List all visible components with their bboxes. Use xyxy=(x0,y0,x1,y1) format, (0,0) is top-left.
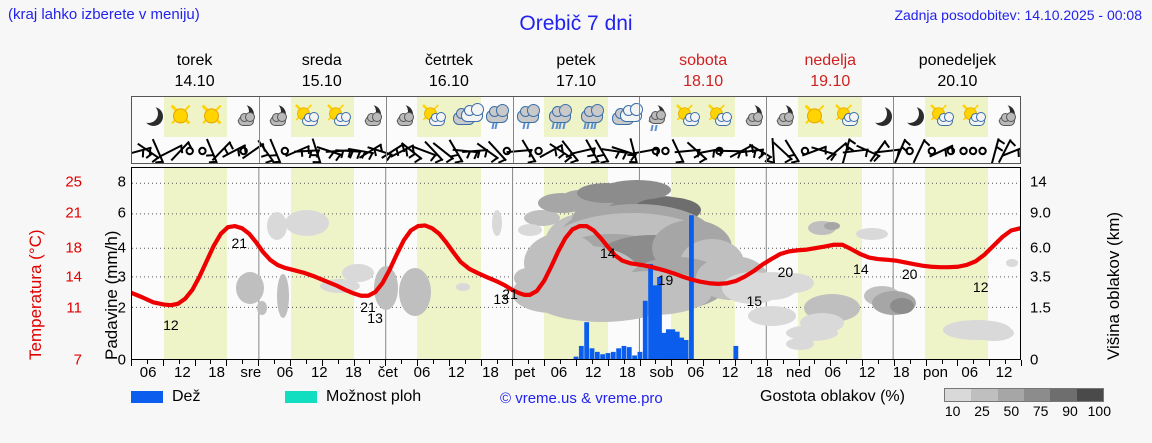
time-tick-label: pet xyxy=(508,364,542,384)
axis-tick: 8 xyxy=(118,174,126,191)
day-header-petek: petek17.10 xyxy=(512,50,639,94)
cloud-icon xyxy=(334,116,350,126)
sun-cloud-icon xyxy=(829,100,863,130)
temperature-label: 15 xyxy=(746,293,762,309)
cloud-rain-heavy-icon xyxy=(575,100,609,130)
raindrop-icon xyxy=(654,125,657,131)
wind-calm-icon xyxy=(240,148,246,154)
weather-slot-24 xyxy=(893,97,925,137)
copyright-link[interactable]: © vreme.us & vreme.pro xyxy=(500,390,663,407)
axis-tick: 14 xyxy=(65,269,82,286)
cloud-density-step-1 xyxy=(971,389,997,401)
cloud-icon xyxy=(683,116,699,126)
axis-tick: 21 xyxy=(65,205,82,222)
weather-slot-21 xyxy=(798,97,830,137)
sun-icon xyxy=(162,97,197,132)
cloud-icon xyxy=(937,116,953,126)
last-updated: Zadnja posodobitev: 14.10.2025 - 00:08 xyxy=(894,7,1142,23)
cloud-icon xyxy=(715,116,731,126)
time-tick-label: 06 xyxy=(816,364,850,384)
raindrop-icon xyxy=(526,123,529,129)
temperature-curve xyxy=(132,168,1020,359)
weather-slot-9 xyxy=(417,97,449,137)
day-header-četrtek: četrtek16.10 xyxy=(385,50,512,94)
wind-barb-icon xyxy=(895,139,910,163)
day-separator xyxy=(259,97,260,163)
time-tick-label: ned xyxy=(781,364,815,384)
time-tick-label: čet xyxy=(371,364,405,384)
legend-label-showers: Možnost ploh xyxy=(326,388,421,406)
moon-cloud-icon xyxy=(258,100,292,130)
time-tick-label: 12 xyxy=(850,364,884,384)
moon-icon xyxy=(868,104,887,123)
weather-slot-12 xyxy=(513,97,545,137)
axis-tick: 0 xyxy=(118,352,126,369)
raindrop-icon xyxy=(562,123,565,129)
wind-calm-icon xyxy=(948,148,954,154)
time-tick-label: 06 xyxy=(405,364,439,384)
weather-slot-22 xyxy=(830,97,862,137)
legend-item-showers: Možnost ploh xyxy=(285,388,421,406)
wind-calm-icon xyxy=(199,148,205,154)
day-header-torek: torek14.10 xyxy=(131,50,258,94)
weather-slot-25 xyxy=(925,97,957,137)
wind-barb-icon xyxy=(159,145,182,157)
moon-cloud-icon xyxy=(385,100,419,130)
weather-slot-1 xyxy=(164,97,196,137)
weather-slot-14 xyxy=(576,97,608,137)
day-separator xyxy=(386,97,387,163)
time-tick-label: 12 xyxy=(302,364,336,384)
cloud-density-step-4 xyxy=(1050,389,1076,401)
wind-barb-icon xyxy=(749,144,771,161)
axis-tick: 4 xyxy=(118,240,126,257)
cloud-icon xyxy=(429,116,445,126)
weather-slot-0 xyxy=(132,97,164,137)
cloud-icon xyxy=(607,100,641,130)
wind-barb-icon xyxy=(171,142,192,161)
moon-cloud-icon xyxy=(987,100,1021,130)
day-name: sreda xyxy=(258,50,385,71)
axis-tick: 3 xyxy=(118,269,126,286)
day-separator xyxy=(639,97,640,163)
moon-cloud-rain-icon xyxy=(638,100,672,130)
raindrop-icon xyxy=(594,123,597,129)
sun-cloud-icon xyxy=(416,100,450,130)
sun-icon xyxy=(163,100,197,130)
axis-tick: 3.5 xyxy=(1030,269,1051,286)
day-date: 17.10 xyxy=(512,71,639,92)
weather-slot-19 xyxy=(735,97,767,137)
time-tick-label: 12 xyxy=(165,364,199,384)
cloud-icon xyxy=(365,116,381,126)
cloud-icon xyxy=(777,116,793,126)
time-tick-label: sob xyxy=(645,364,679,384)
wind-barb-icon xyxy=(212,142,233,161)
cloud-density-scale-labels: 1025507590100 xyxy=(938,403,1114,419)
day-header-sreda: sreda15.10 xyxy=(258,50,385,94)
weather-slot-23 xyxy=(862,97,894,137)
axis-tick: 7 xyxy=(74,352,82,369)
day-separator xyxy=(766,97,767,163)
day-date: 19.10 xyxy=(767,71,894,92)
rain-color-swatch xyxy=(131,391,163,403)
time-tick-label: pon xyxy=(918,364,952,384)
cloud-height-axis-title: Višina oblakov (km) xyxy=(1082,167,1108,360)
cloud-icon xyxy=(549,110,571,123)
moon-cloud-icon xyxy=(226,100,260,130)
showers-color-swatch xyxy=(285,391,317,403)
cloud-density-step-3 xyxy=(1024,389,1050,401)
wind-calm-icon xyxy=(929,148,935,154)
time-tick-label: 12 xyxy=(713,364,747,384)
cloud-density-step-2 xyxy=(998,389,1024,401)
cloud-rain-heavy-icon xyxy=(543,100,577,130)
time-tick-label: 18 xyxy=(884,364,918,384)
day-header-ponedeljek: ponedeljek20.10 xyxy=(894,50,1021,94)
wind-calm-icon xyxy=(282,148,288,154)
time-tick-label: 18 xyxy=(610,364,644,384)
cloud-icon xyxy=(999,116,1015,126)
sun-icon xyxy=(797,97,832,132)
moon-cloud-icon xyxy=(353,100,387,130)
cloud-icon xyxy=(238,116,254,126)
legend-label-rain: Dež xyxy=(172,388,200,406)
axis-tick: 0 xyxy=(1030,352,1038,369)
day-name: sobota xyxy=(640,50,767,71)
legend-item-rain: Dež xyxy=(131,388,200,406)
weather-slot-10 xyxy=(449,97,481,137)
moon-icon xyxy=(139,104,158,123)
axis-tick: 25 xyxy=(65,174,82,191)
cloud-density-tick: 25 xyxy=(967,403,996,419)
wind-calm-icon xyxy=(970,148,976,154)
wind-barb-icon xyxy=(206,139,217,163)
sun-cloud-icon xyxy=(670,100,704,130)
temperature-line xyxy=(132,225,1020,305)
cloud-density-step-5 xyxy=(1077,389,1103,401)
temperature-label: 12 xyxy=(973,279,989,295)
cloud-density-tick: 90 xyxy=(1055,403,1084,419)
day-name: nedelja xyxy=(767,50,894,71)
weather-symbol-band xyxy=(131,96,1021,164)
time-tick-label: 12 xyxy=(576,364,610,384)
axis-tick: 1.5 xyxy=(1030,299,1051,316)
day-header-row: torek14.10sreda15.10četrtek16.10petek17.… xyxy=(131,50,1021,94)
wind-calm-icon xyxy=(906,148,912,154)
weather-slot-7 xyxy=(354,97,386,137)
day-date: 18.10 xyxy=(640,71,767,92)
day-date: 16.10 xyxy=(385,71,512,92)
cloud-icon xyxy=(302,116,318,126)
time-tick-label: 18 xyxy=(747,364,781,384)
time-tick-label: sre xyxy=(234,364,268,384)
day-name: petek xyxy=(512,50,639,71)
cloud-icon xyxy=(448,100,482,130)
axis-tick: 14 xyxy=(1030,174,1047,191)
cloud-icon xyxy=(397,116,413,126)
time-tick-label: 06 xyxy=(679,364,713,384)
cloud-density-tick: 50 xyxy=(997,403,1026,419)
time-tick-label: 06 xyxy=(131,364,165,384)
cloud-icon xyxy=(746,116,762,126)
time-tick-label: 06 xyxy=(953,364,987,384)
axis-tick: 2 xyxy=(118,299,126,316)
cloud-density-step-0 xyxy=(945,389,971,401)
sun-cloud-icon xyxy=(289,100,323,130)
cloud-density-tick: 75 xyxy=(1026,403,1055,419)
sun-cloud-icon xyxy=(702,100,736,130)
cloud-icon xyxy=(517,110,539,123)
cloud-density-tick: 10 xyxy=(938,403,967,419)
day-name: ponedeljek xyxy=(894,50,1021,71)
axis-tick: 11 xyxy=(66,299,82,316)
wind-barb-row xyxy=(132,137,1020,163)
precip-axis-ticks: 864320 xyxy=(84,167,126,360)
axis-tick: 18 xyxy=(65,240,82,257)
time-tick-label: 18 xyxy=(336,364,370,384)
day-date: 14.10 xyxy=(131,71,258,92)
weather-slot-15 xyxy=(608,97,640,137)
wind-calm-icon xyxy=(960,148,966,154)
moon-icon xyxy=(900,104,919,123)
sun-cloud-icon xyxy=(956,100,990,130)
weather-slot-26 xyxy=(957,97,989,137)
temperature-axis-title: Temperatura (°C) xyxy=(4,167,30,360)
cloud-height-axis-ticks: 149.06.03.51.50 xyxy=(1024,167,1080,360)
wind-barb-icon xyxy=(317,147,342,161)
weather-slot-6 xyxy=(322,97,354,137)
temperature-label: 20 xyxy=(902,266,918,282)
weather-slot-2 xyxy=(195,97,227,137)
weather-slot-5 xyxy=(291,97,323,137)
temperature-label: 21 xyxy=(360,299,376,315)
moon-icon xyxy=(892,100,926,130)
wind-calm-icon xyxy=(187,148,193,154)
cloud-rain-icon xyxy=(480,100,514,130)
temperature-label: 12 xyxy=(163,317,179,333)
legend-label-cloud-density: Gostota oblakov (%) xyxy=(760,388,905,406)
weather-slot-20 xyxy=(766,97,798,137)
temperature-label: 20 xyxy=(778,264,794,280)
cloud-density-gradient xyxy=(944,388,1104,402)
cloud-icon xyxy=(270,116,286,126)
wind-barb-icon xyxy=(914,139,930,162)
cloud-icon xyxy=(581,110,603,123)
sun-icon xyxy=(194,97,229,132)
cloud-icon xyxy=(842,116,858,126)
axis-tick: 6.0 xyxy=(1030,240,1051,257)
time-tick-label: 06 xyxy=(542,364,576,384)
axis-tick: 9.0 xyxy=(1030,205,1051,222)
cloud-icon xyxy=(649,114,665,124)
time-tick xyxy=(1021,360,1022,366)
sun-cloud-icon xyxy=(924,100,958,130)
weather-slot-3 xyxy=(227,97,259,137)
day-name: torek xyxy=(131,50,258,71)
time-tick-label: 06 xyxy=(268,364,302,384)
temperature-label: 19 xyxy=(658,272,674,288)
temperature-label: 21 xyxy=(231,235,247,251)
wind-barb-icon xyxy=(992,138,1005,163)
moon-icon xyxy=(131,100,165,130)
day-header-nedelja: nedelja19.10 xyxy=(767,50,894,94)
cloud-icon xyxy=(969,116,985,126)
wind-calm-icon xyxy=(979,148,985,154)
temperature-axis-ticks: 25211814117 xyxy=(36,167,82,360)
weather-slot-11 xyxy=(481,97,513,137)
weather-chart-plot[interactable]: 1221132113211419152014201214 xyxy=(131,167,1021,360)
chart-legend: Dež Možnost ploh © vreme.us & vreme.pro … xyxy=(0,388,1152,428)
weather-slot-16 xyxy=(640,97,672,137)
wind-barb-icon xyxy=(477,143,498,162)
day-separator xyxy=(893,97,894,163)
day-header-sobota: sobota18.10 xyxy=(640,50,767,94)
weather-slot-18 xyxy=(703,97,735,137)
wind-calm-icon xyxy=(535,148,541,154)
weather-slot-8 xyxy=(386,97,418,137)
sun-icon xyxy=(797,100,831,130)
day-name: četrtek xyxy=(385,50,512,71)
raindrop-icon xyxy=(495,123,498,129)
time-axis: 061218sre061218čet061218pet061218sob0612… xyxy=(131,360,1021,386)
time-tick-label: 18 xyxy=(473,364,507,384)
day-separator xyxy=(513,97,514,163)
sun-cloud-icon xyxy=(321,100,355,130)
time-axis-labels: 061218sre061218čet061218pet061218sob0612… xyxy=(131,364,1021,384)
cloud-rain-icon xyxy=(511,100,545,130)
time-tick-label: 12 xyxy=(987,364,1021,384)
moon-cloud-icon xyxy=(734,100,768,130)
moon-cloud-icon xyxy=(765,100,799,130)
time-tick-label: 12 xyxy=(439,364,473,384)
wind-barb-icon xyxy=(258,140,273,162)
day-date: 20.10 xyxy=(894,71,1021,92)
sun-icon xyxy=(194,100,228,130)
weather-slot-13 xyxy=(544,97,576,137)
cloud-density-tick: 100 xyxy=(1085,403,1114,419)
weather-slot-17 xyxy=(671,97,703,137)
temperature-label: 14 xyxy=(853,261,869,277)
weather-slot-27 xyxy=(988,97,1020,137)
day-date: 15.10 xyxy=(258,71,385,92)
temperature-label: 21 xyxy=(502,286,518,302)
time-tick-label: 18 xyxy=(199,364,233,384)
temperature-label: 14 xyxy=(600,245,616,261)
cloud-icon xyxy=(486,110,508,123)
weather-icon-row xyxy=(132,97,1020,137)
wind-barbs-svg xyxy=(132,137,1020,163)
wind-calm-icon xyxy=(653,148,659,154)
weather-slot-4 xyxy=(259,97,291,137)
cloud-height-axis-title-text: Višina oblakov (km) xyxy=(1104,212,1124,360)
moon-icon xyxy=(860,100,894,130)
wind-calm-icon xyxy=(662,148,668,154)
axis-tick: 6 xyxy=(118,205,126,222)
